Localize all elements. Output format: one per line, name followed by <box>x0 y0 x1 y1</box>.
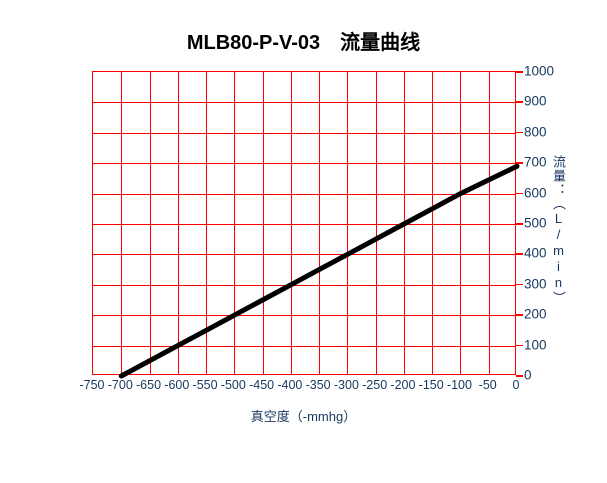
x-axis-tick-label: -650 <box>136 378 161 392</box>
flow-curve-chart: MLB80-P-V-03 流量曲线 -750-700-650-600-550-5… <box>0 0 607 483</box>
y-axis-tick-label: 500 <box>524 216 547 231</box>
x-axis-tick-label: -400 <box>277 378 302 392</box>
y-axis-tick-mark <box>516 223 523 225</box>
series-line-svg <box>93 72 517 376</box>
y-axis-tick-label: 800 <box>524 124 547 139</box>
x-axis-title: 真空度（-mmhg） <box>0 406 607 425</box>
x-axis-tick-label: -300 <box>334 378 359 392</box>
x-axis-tick-label: -450 <box>249 378 274 392</box>
x-axis-tick-label: -100 <box>447 378 472 392</box>
y-axis-title: 流量：（L/min） <box>548 155 568 305</box>
y-axis-tick-label: 600 <box>524 185 547 200</box>
y-axis-tick-label: 100 <box>524 337 547 352</box>
series-line-flow <box>121 166 517 376</box>
x-axis-tick-label: -150 <box>419 378 444 392</box>
y-axis-tick-mark <box>516 162 523 164</box>
y-axis-tick-mark <box>516 193 523 195</box>
y-axis-tick-label: 300 <box>524 276 547 291</box>
y-axis-tick-label: 1000 <box>524 64 554 79</box>
y-axis-tick-mark <box>516 71 523 73</box>
y-axis-tick-mark <box>516 284 523 286</box>
chart-title: MLB80-P-V-03 流量曲线 <box>0 26 607 55</box>
plot-area <box>92 71 516 375</box>
y-axis-tick-mark <box>516 132 523 134</box>
y-axis-tick-mark <box>516 375 523 377</box>
x-axis-tick-label: -550 <box>193 378 218 392</box>
y-axis-tick-mark <box>516 253 523 255</box>
y-axis-tick-label: 400 <box>524 246 547 261</box>
x-axis-tick-label: -250 <box>362 378 387 392</box>
y-axis-tick-mark <box>516 314 523 316</box>
x-axis-tick-label: -500 <box>221 378 246 392</box>
y-axis-tick-mark <box>516 101 523 103</box>
y-axis-tick-label: 700 <box>524 155 547 170</box>
x-axis-tick-label: -600 <box>164 378 189 392</box>
x-axis-tick-label: -50 <box>479 378 497 392</box>
y-axis-tick-label: 200 <box>524 307 547 322</box>
x-axis-tick-label: -700 <box>108 378 133 392</box>
y-axis-tick-mark <box>516 345 523 347</box>
y-axis-tick-label: 0 <box>524 368 532 383</box>
x-axis-tick-label: -350 <box>306 378 331 392</box>
x-axis-tick-label: 0 <box>513 378 520 392</box>
x-axis-tick-label: -200 <box>390 378 415 392</box>
x-axis-tick-label: -750 <box>79 378 104 392</box>
y-axis-tick-label: 900 <box>524 94 547 109</box>
